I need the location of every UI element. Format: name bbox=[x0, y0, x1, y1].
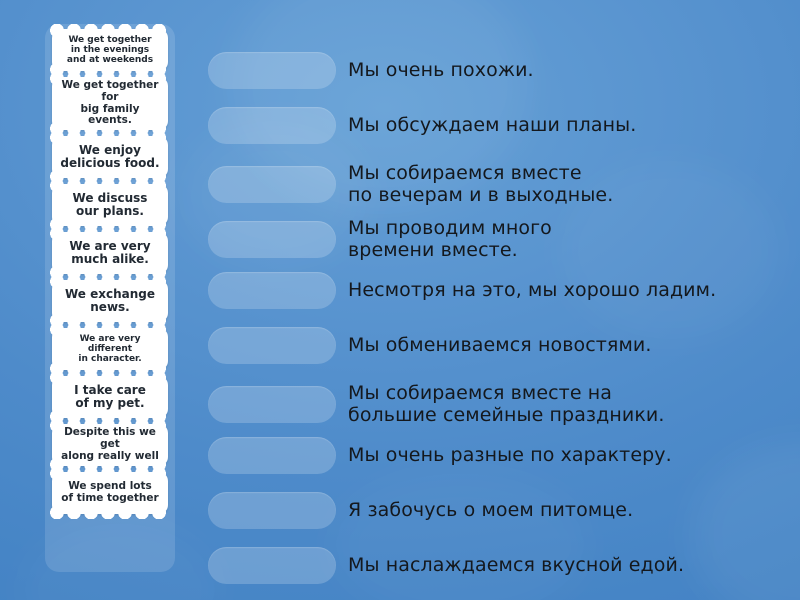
drop-slot[interactable] bbox=[208, 166, 336, 203]
answer-row: Мы очень разные по характеру. bbox=[208, 437, 783, 474]
draggable-card-label: We discuss our plans. bbox=[73, 192, 148, 219]
answer-sentence: Мы очень разные по характеру. bbox=[348, 444, 672, 466]
drop-slot[interactable] bbox=[208, 52, 336, 89]
draggable-card-label: I take care of my pet. bbox=[74, 384, 146, 411]
answer-sentence: Мы проводим много времени вместе. bbox=[348, 217, 552, 261]
draggable-card-label: Despite this we get along really well bbox=[59, 427, 161, 462]
drop-slot[interactable] bbox=[208, 437, 336, 474]
answer-sentence: Мы наслаждаемся вкусной едой. bbox=[348, 554, 684, 576]
drop-slot[interactable] bbox=[208, 107, 336, 144]
answer-sentence: Мы собираемся вместе на большие семейные… bbox=[348, 382, 665, 426]
draggable-card-label: We get together in the evenings and at w… bbox=[67, 35, 153, 65]
answer-sentence: Я забочусь о моем питомце. bbox=[348, 499, 633, 521]
draggable-card[interactable]: I take care of my pet. bbox=[52, 376, 168, 418]
draggable-card-label: We spend lots of time together bbox=[61, 481, 158, 505]
draggable-card-label: We enjoy delicious food. bbox=[60, 144, 159, 171]
answer-row: Мы обсуждаем наши планы. bbox=[208, 107, 783, 144]
answer-sentence: Мы обсуждаем наши планы. bbox=[348, 114, 636, 136]
draggable-cards-panel: We get together in the evenings and at w… bbox=[45, 24, 175, 572]
draggable-card[interactable]: We discuss our plans. bbox=[52, 184, 168, 226]
answer-list: Мы очень похожи.Мы обсуждаем наши планы.… bbox=[208, 26, 783, 574]
answer-row: Мы очень похожи. bbox=[208, 52, 783, 89]
draggable-card-label: We exchange news. bbox=[65, 288, 155, 315]
drop-slot[interactable] bbox=[208, 547, 336, 584]
answer-row: Мы наслаждаемся вкусной едой. bbox=[208, 547, 783, 584]
drop-slot[interactable] bbox=[208, 221, 336, 258]
draggable-card[interactable]: We are very much alike. bbox=[52, 232, 168, 274]
answer-sentence: Мы очень похожи. bbox=[348, 59, 534, 81]
draggable-card[interactable]: Despite this we get along really well bbox=[52, 424, 168, 466]
answer-sentence: Мы обмениваемся новостями. bbox=[348, 334, 651, 356]
drop-slot[interactable] bbox=[208, 327, 336, 364]
draggable-card-label: We are very much alike. bbox=[69, 240, 150, 267]
draggable-card[interactable]: We get together for big family events. bbox=[52, 77, 168, 130]
answer-row: Мы обмениваемся новостями. bbox=[208, 327, 783, 364]
draggable-card[interactable]: We are very different in character. bbox=[52, 328, 168, 370]
draggable-card-label: We get together for big family events. bbox=[59, 80, 161, 127]
answer-sentence: Несмотря на это, мы хорошо ладим. bbox=[348, 279, 716, 301]
answer-row: Я забочусь о моем питомце. bbox=[208, 492, 783, 529]
answer-row: Мы проводим много времени вместе. bbox=[208, 217, 783, 261]
draggable-card-label: We are very different in character. bbox=[59, 334, 161, 364]
draggable-card[interactable]: We enjoy delicious food. bbox=[52, 136, 168, 178]
answer-row: Несмотря на это, мы хорошо ладим. bbox=[208, 272, 783, 309]
drop-slot[interactable] bbox=[208, 492, 336, 529]
drop-slot[interactable] bbox=[208, 386, 336, 423]
answer-sentence: Мы собираемся вместе по вечерам и в выхо… bbox=[348, 162, 613, 206]
answer-row: Мы собираемся вместе на большие семейные… bbox=[208, 382, 783, 426]
draggable-card[interactable]: We get together in the evenings and at w… bbox=[52, 29, 168, 71]
answer-row: Мы собираемся вместе по вечерам и в выхо… bbox=[208, 162, 783, 206]
draggable-card[interactable]: We exchange news. bbox=[52, 280, 168, 322]
activity-canvas: We get together in the evenings and at w… bbox=[0, 0, 800, 600]
drop-slot[interactable] bbox=[208, 272, 336, 309]
draggable-card[interactable]: We spend lots of time together bbox=[52, 472, 168, 514]
